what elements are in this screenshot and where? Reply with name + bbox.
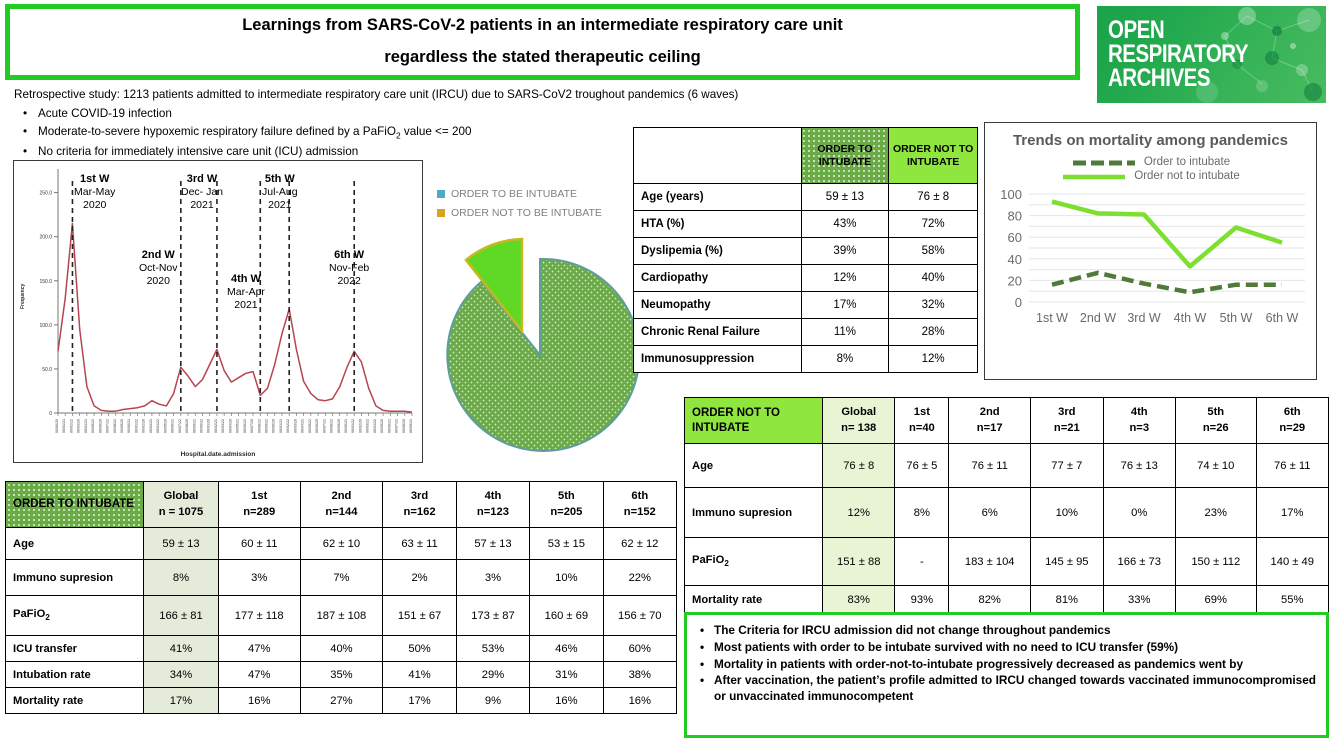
table-row-label: Intubation rate (6, 662, 144, 688)
svg-text:100: 100 (1000, 187, 1022, 202)
table-cell: 10% (1031, 488, 1103, 538)
table-cell: 69% (1175, 586, 1256, 614)
logo-line-1: OPEN (1108, 18, 1248, 42)
wave-annotation: 4th WMar-Apr2021 (227, 273, 265, 311)
svg-text:60: 60 (1008, 230, 1022, 245)
trends-legend-item-1: Order not to intubate (985, 170, 1316, 182)
comparison-value-not-intubate: 72% (889, 211, 978, 238)
table-cell: 47% (218, 636, 300, 662)
table-cell: 145 ± 95 (1031, 538, 1103, 586)
svg-text:250.0: 250.0 (39, 191, 52, 197)
table-row: Immunosuppression8%12% (634, 346, 978, 373)
wave-annotation: 2nd WOct-Nov2020 (139, 249, 178, 287)
svg-text:0: 0 (49, 411, 52, 417)
table-row-label: ICU transfer (6, 636, 144, 662)
table-row: Mortality rate83%93%82%81%33%69%55% (685, 586, 1329, 614)
table-cell: 12% (823, 488, 895, 538)
mortality-trends-chart: Trends on mortality among pandemics Orde… (984, 122, 1317, 380)
table-cell: 74 ± 10 (1175, 444, 1256, 488)
table-cell: 187 ± 108 (300, 596, 383, 636)
table-cell: 60% (603, 636, 676, 662)
table-cell: 35% (300, 662, 383, 688)
trends-chart-title: Trends on mortality among pandemics (985, 132, 1316, 150)
comparison-row-label: Chronic Renal Failure (634, 319, 802, 346)
svg-text:00/05/20: 00/05/20 (163, 419, 167, 433)
conclusions-list: The Criteria for IRCU admission did not … (697, 623, 1316, 705)
table-column-header: Globaln = 1075 (144, 482, 219, 528)
svg-text:00/06/21: 00/06/21 (171, 419, 175, 433)
table-cell: 166 ± 81 (144, 596, 219, 636)
wave-annotation: 6th WNov-Feb2022 (329, 249, 369, 287)
svg-text:00/09/22: 00/09/22 (265, 419, 269, 433)
comparison-value-not-intubate: 32% (889, 292, 978, 319)
svg-text:00/02/21: 00/02/21 (214, 419, 218, 433)
svg-text:00/00/22: 00/00/22 (199, 419, 203, 433)
svg-text:00/07/21: 00/07/21 (106, 419, 110, 433)
table-cell: 53 ± 15 (530, 528, 603, 560)
table-cell: 38% (603, 662, 676, 688)
conclusion-item: After vaccination, the patient’s profile… (697, 673, 1316, 705)
pie-slice-order-to-intubate (447, 259, 639, 451)
svg-text:6th W: 6th W (1266, 311, 1299, 325)
order-not-to-intubate-body: ORDER NOT TO INTUBATEGlobaln= 1381stn=40… (685, 398, 1329, 614)
svg-text:00/00/20: 00/00/20 (272, 419, 276, 433)
table-cell: 10% (530, 560, 603, 596)
table-cell: 151 ± 67 (383, 596, 456, 636)
logo-line-2: RESPIRATORY (1108, 42, 1248, 66)
table-cell: 151 ± 88 (823, 538, 895, 586)
comparison-value-not-intubate: 28% (889, 319, 978, 346)
table-cell: 183 ± 104 (949, 538, 1031, 586)
criteria-2-post: value <= 200 (401, 125, 472, 138)
svg-text:00/08/21: 00/08/21 (257, 419, 261, 433)
table-cell: 166 ± 73 (1103, 538, 1175, 586)
table-cell: 140 ± 49 (1256, 538, 1329, 586)
svg-text:00/08/20: 00/08/20 (402, 419, 406, 433)
svg-text:00/04/22: 00/04/22 (156, 419, 160, 433)
pie-chart-canvas (437, 228, 642, 453)
table-column-header: 1stn=289 (218, 482, 300, 528)
table-row: Age59 ± 1360 ± 1162 ± 1063 ± 1157 ± 1353… (6, 528, 677, 560)
table-column-header: 2ndn=144 (300, 482, 383, 528)
table-cell: 46% (530, 636, 603, 662)
table-row-label: Immuno supresion (6, 560, 144, 596)
wave-annotation: 5th WJul-Aug2021 (262, 173, 298, 211)
table-cell: 47% (218, 662, 300, 688)
svg-text:00/07/22: 00/07/22 (395, 419, 399, 433)
table-column-header: 6thn=29 (1256, 398, 1329, 444)
poster-title-line-2: regardless the stated therapeutic ceilin… (384, 46, 700, 70)
comparison-row-label: Neumopathy (634, 292, 802, 319)
trends-legend-item-0: Order to intubate (985, 156, 1316, 168)
svg-text:00/06/20: 00/06/20 (98, 419, 102, 433)
table-cell: 8% (144, 560, 219, 596)
table-cell: 2% (383, 560, 456, 596)
comparison-value-intubate: 11% (801, 319, 889, 346)
table-cell: 7% (300, 560, 383, 596)
table-cell: 16% (603, 688, 676, 714)
table-corner-header: ORDER NOT TO INTUBATE (685, 398, 823, 444)
svg-text:00/03/21: 00/03/21 (366, 419, 370, 433)
svg-text:00/02/22: 00/02/22 (286, 419, 290, 433)
table-cell: 83% (823, 586, 895, 614)
comparison-header-row: ORDER TO INTUBATE ORDER NOT TO INTUBATE (634, 128, 978, 184)
table-cell: 29% (456, 662, 529, 688)
table-column-header: 2ndn=17 (949, 398, 1031, 444)
table-cell: 76 ± 13 (1103, 444, 1175, 488)
svg-text:00/05/20: 00/05/20 (380, 419, 384, 433)
table-cell: 160 ± 69 (530, 596, 603, 636)
table-cell: 22% (603, 560, 676, 596)
line-chart-x-axis-title: Hospital.date.admission (14, 451, 422, 458)
table-cell: 77 ± 7 (1031, 444, 1103, 488)
pie-legend-label-1: ORDER NOT TO BE INTUBATE (451, 207, 602, 219)
table-cell: 82% (949, 586, 1031, 614)
table-cell: 53% (456, 636, 529, 662)
pie-chart-legend: ORDER TO BE INTUBATE ORDER NOT TO BE INT… (437, 188, 602, 226)
table-cell: 76 ± 11 (1256, 444, 1329, 488)
svg-text:00/01/21: 00/01/21 (62, 419, 66, 433)
table-cell: 156 ± 70 (603, 596, 676, 636)
svg-text:00/01/21: 00/01/21 (279, 419, 283, 433)
table-cell: 173 ± 87 (456, 596, 529, 636)
table-row-label: PaFiO2 (6, 596, 144, 636)
criteria-item-1: Acute COVID-19 infection (14, 105, 914, 123)
table-cell: 76 ± 8 (823, 444, 895, 488)
table-cell: 177 ± 118 (218, 596, 300, 636)
open-respiratory-archives-logo: OPEN RESPIRATORY ARCHIVES (1097, 6, 1326, 103)
conclusion-item: The Criteria for IRCU admission did not … (697, 623, 1316, 639)
comparison-header-blank (634, 128, 802, 184)
table-cell: 150 ± 112 (1175, 538, 1256, 586)
table-column-header: 6thn=152 (603, 482, 676, 528)
svg-text:00/07/22: 00/07/22 (178, 419, 182, 433)
comparison-value-not-intubate: 12% (889, 346, 978, 373)
conclusion-item: Most patients with order to be intubate … (697, 640, 1316, 656)
study-lead-text: Retrospective study: 1213 patients admit… (14, 86, 914, 104)
table-column-header: 5thn=205 (530, 482, 603, 528)
conclusions-box: The Criteria for IRCU admission did not … (684, 612, 1329, 738)
table-cell: 8% (895, 488, 949, 538)
svg-text:00/05/22: 00/05/22 (91, 419, 95, 433)
svg-text:00/06/21: 00/06/21 (387, 419, 391, 433)
table-row: Chronic Renal Failure11%28% (634, 319, 978, 346)
svg-text:150.0: 150.0 (39, 279, 52, 285)
trends-legend-label-1: Order not to intubate (1134, 170, 1239, 182)
svg-text:200.0: 200.0 (39, 235, 52, 241)
comparison-header-order-not-to-intubate: ORDER NOT TO INTUBATE (889, 128, 978, 184)
table-cell: 63 ± 11 (383, 528, 456, 560)
svg-text:00/06/20: 00/06/20 (315, 419, 319, 433)
line-chart-y-axis-title: Frequency (20, 284, 26, 309)
table-column-header: 1stn=40 (895, 398, 949, 444)
comparison-row-label: Cardiopathy (634, 265, 802, 292)
table-row: Age76 ± 876 ± 576 ± 1177 ± 776 ± 1374 ± … (685, 444, 1329, 488)
svg-text:00/05/22: 00/05/22 (308, 419, 312, 433)
table-row-label: Mortality rate (6, 688, 144, 714)
comparison-value-not-intubate: 40% (889, 265, 978, 292)
table-row-label: Age (6, 528, 144, 560)
svg-text:00/09/20: 00/09/20 (337, 419, 341, 433)
table-cell: 23% (1175, 488, 1256, 538)
svg-text:00/04/20: 00/04/20 (228, 419, 232, 433)
table-cell: 34% (144, 662, 219, 688)
conclusion-item: Mortality in patients with order-not-to-… (697, 657, 1316, 673)
table-row: PaFiO2151 ± 88-183 ± 104145 ± 95166 ± 73… (685, 538, 1329, 586)
pie-legend-item-0: ORDER TO BE INTUBATE (437, 188, 602, 200)
table-cell: 0% (1103, 488, 1175, 538)
svg-text:00/08/22: 00/08/22 (330, 419, 334, 433)
table-cell: 59 ± 13 (144, 528, 219, 560)
table-header-row: ORDER TO INTUBATEGlobaln = 10751stn=2892… (6, 482, 677, 528)
table-cell: 76 ± 5 (895, 444, 949, 488)
svg-text:00/00/21: 00/00/21 (344, 419, 348, 433)
svg-text:80: 80 (1008, 209, 1022, 224)
table-row: PaFiO2166 ± 81177 ± 118187 ± 108151 ± 67… (6, 596, 677, 636)
table-cell: 40% (300, 636, 383, 662)
wave-annotation: 3rd WDec- Jan2021 (181, 173, 223, 211)
table-column-header: 4thn=3 (1103, 398, 1175, 444)
table-cell: 55% (1256, 586, 1329, 614)
svg-text:00/00/21: 00/00/21 (127, 419, 131, 433)
svg-text:00/04/22: 00/04/22 (373, 419, 377, 433)
order-to-intubate-table: ORDER TO INTUBATEGlobaln = 10751stn=2892… (5, 481, 677, 714)
svg-text:00/01/22: 00/01/22 (134, 419, 138, 433)
table-cell: 17% (144, 688, 219, 714)
table-row: Age (years)59 ± 1376 ± 8 (634, 184, 978, 211)
comparison-row-label: Age (years) (634, 184, 802, 211)
table-cell: 9% (456, 688, 529, 714)
comparison-row-label: HTA (%) (634, 211, 802, 238)
table-row: Mortality rate17%16%27%17%9%16%16% (6, 688, 677, 714)
svg-text:00/03/21: 00/03/21 (149, 419, 153, 433)
comparison-table-head: ORDER TO INTUBATE ORDER NOT TO INTUBATE (634, 128, 978, 184)
svg-text:00/04/21: 00/04/21 (84, 419, 88, 433)
table-cell: 16% (530, 688, 603, 714)
table-row-label: Age (685, 444, 823, 488)
table-row-label: PaFiO2 (685, 538, 823, 586)
table-row: Dyslipemia (%)39%58% (634, 238, 978, 265)
trends-legend-label-0: Order to intubate (1144, 156, 1230, 168)
comparison-value-intubate: 8% (801, 346, 889, 373)
table-column-header: 4thn=123 (456, 482, 529, 528)
svg-text:100.0: 100.0 (39, 323, 52, 329)
poster-title-box: Learnings from SARS-CoV-2 patients in an… (5, 4, 1080, 80)
table-corner-header: ORDER TO INTUBATE (6, 482, 144, 528)
comparison-value-intubate: 12% (801, 265, 889, 292)
svg-text:2nd W: 2nd W (1080, 311, 1116, 325)
comparison-value-intubate: 39% (801, 238, 889, 265)
table-cell: 6% (949, 488, 1031, 538)
table-row-label: Immuno supresion (685, 488, 823, 538)
svg-text:5th W: 5th W (1220, 311, 1253, 325)
comparison-value-intubate: 17% (801, 292, 889, 319)
table-cell: 62 ± 10 (300, 528, 383, 560)
comparison-value-intubate: 43% (801, 211, 889, 238)
criteria-2-pre: Moderate-to-severe hypoxemic respiratory… (38, 125, 396, 138)
table-cell: - (895, 538, 949, 586)
svg-text:00/09/21: 00/09/21 (409, 419, 413, 433)
logo-line-3: ARCHIVES (1108, 66, 1248, 90)
svg-text:00/08/20: 00/08/20 (185, 419, 189, 433)
legend-swatch-order-not-to-intubate (437, 209, 445, 217)
table-cell: 3% (218, 560, 300, 596)
table-cell: 16% (218, 688, 300, 714)
svg-text:00/00/20: 00/00/20 (55, 419, 59, 433)
table-cell: 57 ± 13 (456, 528, 529, 560)
svg-text:00/05/21: 00/05/21 (236, 419, 240, 433)
table-cell: 93% (895, 586, 949, 614)
svg-text:4th W: 4th W (1174, 311, 1207, 325)
table-row: Immuno supresion8%3%7%2%3%10%22% (6, 560, 677, 596)
table-cell: 3% (456, 560, 529, 596)
poster-title-line-1: Learnings from SARS-CoV-2 patients in an… (242, 14, 843, 38)
svg-text:00/02/20: 00/02/20 (142, 419, 146, 433)
svg-text:20: 20 (1008, 274, 1022, 289)
legend-line-dashed-icon (1071, 158, 1137, 167)
intubation-order-pie-chart (437, 228, 642, 453)
table-cell: 17% (383, 688, 456, 714)
table-row: Intubation rate34%47%35%41%29%31%38% (6, 662, 677, 688)
svg-text:00/03/22: 00/03/22 (221, 419, 225, 433)
svg-text:00/01/20: 00/01/20 (207, 419, 211, 433)
svg-text:1st W: 1st W (1036, 311, 1068, 325)
table-cell: 33% (1103, 586, 1175, 614)
table-column-header: 5thn=26 (1175, 398, 1256, 444)
table-column-header: 3rdn=21 (1031, 398, 1103, 444)
table-column-header: Globaln= 138 (823, 398, 895, 444)
pie-legend-item-1: ORDER NOT TO BE INTUBATE (437, 207, 602, 219)
wave-annotation: 1st WMar-May2020 (74, 173, 115, 211)
svg-text:00/07/21: 00/07/21 (322, 419, 326, 433)
table-cell: 27% (300, 688, 383, 714)
svg-text:00/09/21: 00/09/21 (192, 419, 196, 433)
admissions-line-chart: Frequency 050.0100.0150.0200.0250.000/00… (13, 160, 423, 463)
legend-line-solid-icon (1061, 172, 1127, 181)
comparison-value-not-intubate: 58% (889, 238, 978, 265)
svg-text:50.0: 50.0 (42, 367, 52, 373)
comparison-value-not-intubate: 76 ± 8 (889, 184, 978, 211)
comparison-row-label: Dyslipemia (%) (634, 238, 802, 265)
table-column-header: 3rdn=162 (383, 482, 456, 528)
svg-text:00/02/20: 00/02/20 (358, 419, 362, 433)
svg-text:00/06/22: 00/06/22 (243, 419, 247, 433)
svg-text:40: 40 (1008, 252, 1022, 267)
comparison-header-order-to-intubate: ORDER TO INTUBATE (801, 128, 889, 184)
trends-chart-canvas: 0204060801001st W2nd W3rd W4th W5th W6th… (985, 184, 1315, 334)
table-cell: 81% (1031, 586, 1103, 614)
trends-chart-legend: Order to intubate Order not to intubate (985, 156, 1316, 182)
table-row: ICU transfer41%47%40%50%53%46%60% (6, 636, 677, 662)
comparison-value-intubate: 59 ± 13 (801, 184, 889, 211)
svg-text:00/09/20: 00/09/20 (120, 419, 124, 433)
order-not-to-intubate-table: ORDER NOT TO INTUBATEGlobaln= 1381stn=40… (684, 397, 1329, 614)
table-header-row: ORDER NOT TO INTUBATEGlobaln= 1381stn=40… (685, 398, 1329, 444)
table-cell: 41% (144, 636, 219, 662)
table-cell: 50% (383, 636, 456, 662)
table-row: Cardiopathy12%40% (634, 265, 978, 292)
svg-text:00/03/20: 00/03/20 (77, 419, 81, 433)
table-cell: 62 ± 12 (603, 528, 676, 560)
table-cell: 76 ± 11 (949, 444, 1031, 488)
comparison-table-body: Age (years)59 ± 1376 ± 8HTA (%)43%72%Dys… (634, 184, 978, 373)
table-cell: 31% (530, 662, 603, 688)
clinical-comparison-table: ORDER TO INTUBATE ORDER NOT TO INTUBATE … (633, 127, 978, 373)
logo-wordmark: OPEN RESPIRATORY ARCHIVES (1108, 18, 1248, 90)
order-to-intubate-body: ORDER TO INTUBATEGlobaln = 10751stn=2892… (6, 482, 677, 714)
svg-text:3rd W: 3rd W (1127, 311, 1161, 325)
pie-legend-label-0: ORDER TO BE INTUBATE (451, 188, 577, 200)
table-row: HTA (%)43%72% (634, 211, 978, 238)
table-cell: 41% (383, 662, 456, 688)
table-row-label: Mortality rate (685, 586, 823, 614)
svg-text:00/07/20: 00/07/20 (250, 419, 254, 433)
comparison-row-label: Immunosuppression (634, 346, 802, 373)
table-cell: 17% (1256, 488, 1329, 538)
svg-text:00/01/22: 00/01/22 (351, 419, 355, 433)
svg-text:00/04/21: 00/04/21 (301, 419, 305, 433)
table-cell: 60 ± 11 (218, 528, 300, 560)
legend-swatch-order-to-intubate (437, 190, 445, 198)
svg-text:00/02/22: 00/02/22 (69, 419, 73, 433)
svg-text:00/03/20: 00/03/20 (293, 419, 297, 433)
table-row: Neumopathy17%32% (634, 292, 978, 319)
table-row: Immuno supresion12%8%6%10%0%23%17% (685, 488, 1329, 538)
svg-text:00/08/22: 00/08/22 (113, 419, 117, 433)
poster-root: Learnings from SARS-CoV-2 patients in an… (0, 0, 1333, 745)
svg-text:0: 0 (1015, 295, 1022, 310)
